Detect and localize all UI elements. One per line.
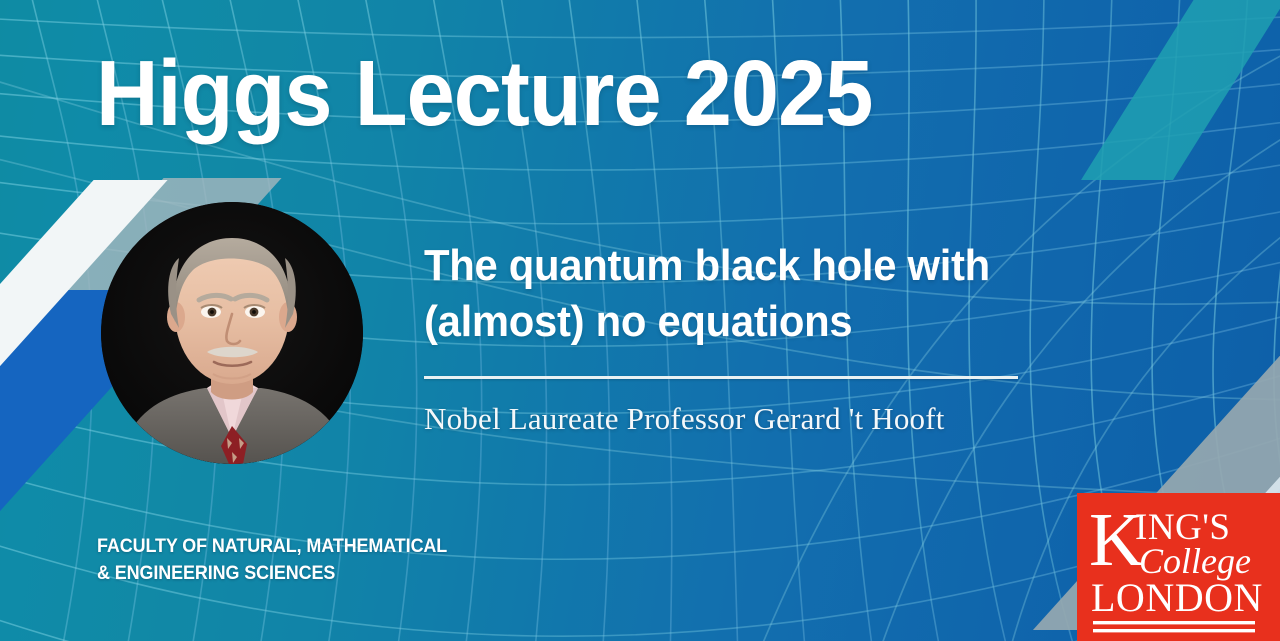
avatar bbox=[101, 202, 363, 464]
faculty-line-1: FACULTY OF NATURAL, MATHEMATICAL bbox=[97, 533, 447, 560]
higgs-lecture-poster: Higgs Lecture 2025 bbox=[0, 0, 1280, 641]
page-title: Higgs Lecture 2025 bbox=[96, 47, 872, 140]
diagonal-patch-teal-icon bbox=[1081, 0, 1280, 180]
logo-rule-top bbox=[1093, 621, 1255, 624]
lecture-title-line-1: The quantum black hole with bbox=[424, 238, 1013, 294]
faculty-line-2: & ENGINEERING SCIENCES bbox=[97, 560, 447, 587]
divider bbox=[424, 376, 1018, 379]
lecture-title-line-2: (almost) no equations bbox=[424, 294, 1013, 350]
kings-college-london-logo: K ING'S College LONDON bbox=[1077, 493, 1280, 641]
faculty-name: FACULTY OF NATURAL, MATHEMATICAL & ENGIN… bbox=[97, 533, 447, 587]
speaker-name: Nobel Laureate Professor Gerard 't Hooft bbox=[424, 400, 1044, 437]
logo-rule-bottom bbox=[1093, 629, 1255, 632]
logo-text-london: LONDON bbox=[1091, 575, 1263, 620]
lecture-title: The quantum black hole with (almost) no … bbox=[424, 238, 1013, 350]
